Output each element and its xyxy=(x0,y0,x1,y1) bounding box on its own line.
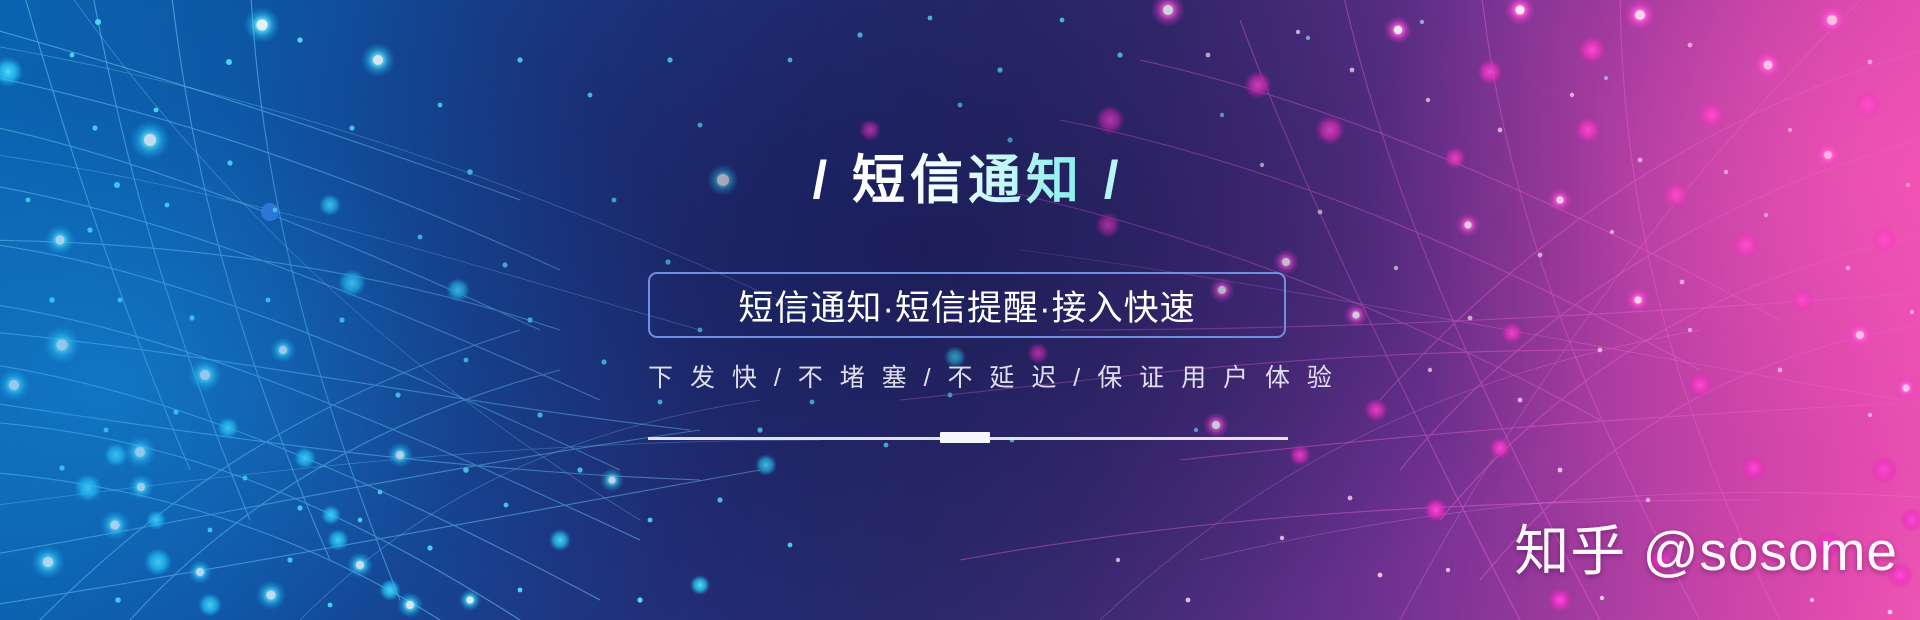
page-title: / 短信通知 / xyxy=(648,152,1288,210)
subtitle-box: 短信通知·短信提醒·接入快速 xyxy=(648,272,1286,338)
watermark-handle: @sosome xyxy=(1643,520,1898,582)
banner-content: / 短信通知 / 短信通知·短信提醒·接入快速 下 发 快 / 不 堵 塞 / … xyxy=(648,0,1288,620)
watermark: 知乎 @sosome xyxy=(1514,506,1898,586)
subtitle-text: 短信通知·短信提醒·接入快速 xyxy=(738,280,1195,331)
watermark-brand: 知乎 xyxy=(1514,520,1626,582)
sms-notification-banner: / 短信通知 / 短信通知·短信提醒·接入快速 下 发 快 / 不 堵 塞 / … xyxy=(0,0,1920,620)
tagline-text: 下 发 快 / 不 堵 塞 / 不 延 迟 / 保 证 用 户 体 验 xyxy=(648,358,1288,394)
divider-knob xyxy=(940,432,990,443)
